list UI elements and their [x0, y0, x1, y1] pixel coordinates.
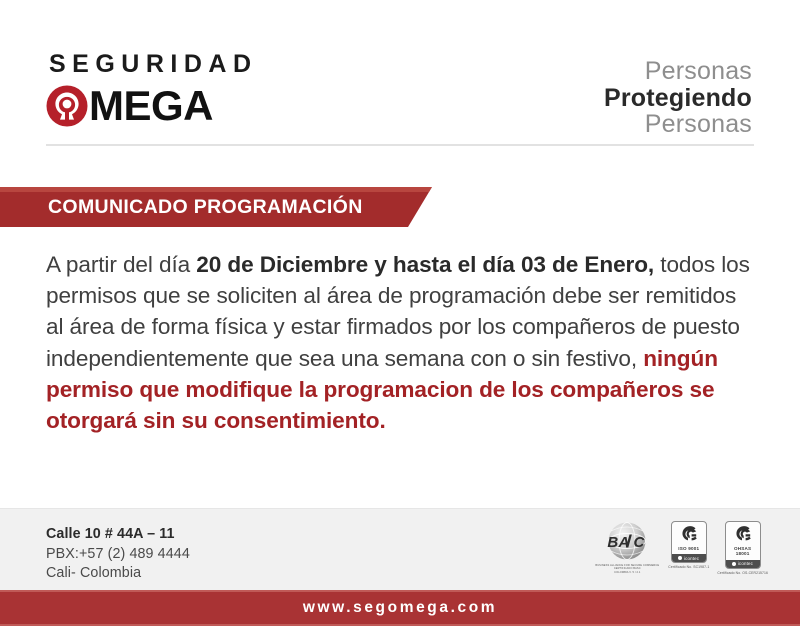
- ohsas18001-accreditor: icontec: [726, 560, 760, 568]
- website-bar-top-edge: [0, 590, 800, 592]
- brand-tagline: Personas Protegiendo Personas: [604, 58, 752, 138]
- basc-caption-line-3: COLOMBIA V. 5 / 2.1: [595, 571, 659, 574]
- icontec-swoosh-icon: [679, 525, 699, 544]
- comunicado-banner: COMUNICADO PROGRAMACIÓN: [0, 187, 440, 227]
- tagline-line-1: Personas: [604, 58, 752, 85]
- iso9001-card: ISO 9001 icontec: [671, 521, 707, 563]
- brand-word-omega-row: MEGA: [46, 84, 258, 128]
- iso9001-accreditor-label: icontec: [684, 556, 699, 561]
- body-segment-0: A partir del día: [46, 252, 196, 277]
- website-bar: www.segomega.com: [0, 590, 800, 626]
- icontec-logo-icon: [732, 562, 736, 566]
- body-segment-1: 20 de Diciembre y hasta el día 03 de Ene…: [196, 252, 654, 277]
- brand-logo: SEGURIDAD MEGA: [46, 52, 258, 128]
- icontec-swoosh-icon: [733, 525, 753, 544]
- banner-title: COMUNICADO PROGRAMACIÓN: [48, 187, 363, 227]
- cert-badge-ohsas18001: OHSAS 18001 icontec Certificado No. OS-C…: [717, 521, 768, 575]
- ohsas18001-card: OHSAS 18001 icontec: [725, 521, 761, 569]
- certification-badges: BA C BUSINESS ALLIANCE FOR SECURE COMMER…: [594, 521, 768, 575]
- address-street: Calle 10 # 44A – 11: [46, 525, 190, 545]
- cert-badge-basc: BA C BUSINESS ALLIANCE FOR SECURE COMMER…: [594, 521, 660, 574]
- basc-caption: BUSINESS ALLIANCE FOR SECURE COMMERCE CE…: [595, 564, 659, 574]
- iso9001-certificate-number: Certificado No. SC1987-1: [668, 565, 709, 569]
- iso9001-standard: ISO 9001: [678, 546, 699, 551]
- cert-badge-iso9001: ISO 9001 icontec Certificado No. SC1987-…: [668, 521, 709, 569]
- tagline-line-3: Personas: [604, 111, 752, 138]
- page-footer: Calle 10 # 44A – 11 PBX:+57 (2) 489 4444…: [0, 508, 800, 590]
- basc-globe-icon: BA C: [599, 521, 655, 563]
- tagline-line-2: Protegiendo: [604, 85, 752, 112]
- ohsas18001-standard: OHSAS 18001: [734, 546, 751, 557]
- ohsas18001-standard-line-2: 18001: [734, 551, 751, 556]
- footer-divider: [0, 508, 800, 509]
- omega-pin-icon: [46, 85, 88, 127]
- svg-text:BA C: BA C: [608, 534, 646, 551]
- comunicado-page: SEGURIDAD MEGA Personas Protegiendo Pers…: [0, 0, 800, 626]
- iso9001-accreditor: icontec: [672, 554, 706, 562]
- brand-word-seguridad: SEGURIDAD: [46, 52, 258, 77]
- address-phone: PBX:+57 (2) 489 4444: [46, 545, 190, 565]
- header-divider: [46, 144, 754, 146]
- website-url[interactable]: www.segomega.com: [303, 599, 497, 617]
- address-city: Cali- Colombia: [46, 564, 190, 584]
- ohsas18001-certificate-number: Certificado No. OS-CER215716: [717, 571, 768, 575]
- brand-word-mega: MEGA: [89, 85, 213, 127]
- icontec-logo-icon: [678, 556, 682, 560]
- contact-address: Calle 10 # 44A – 11 PBX:+57 (2) 489 4444…: [46, 525, 190, 584]
- ohsas18001-accreditor-label: icontec: [738, 561, 753, 566]
- page-header: SEGURIDAD MEGA Personas Protegiendo Pers…: [0, 0, 800, 146]
- comunicado-body: A partir del día 20 de Diciembre y hasta…: [46, 249, 758, 436]
